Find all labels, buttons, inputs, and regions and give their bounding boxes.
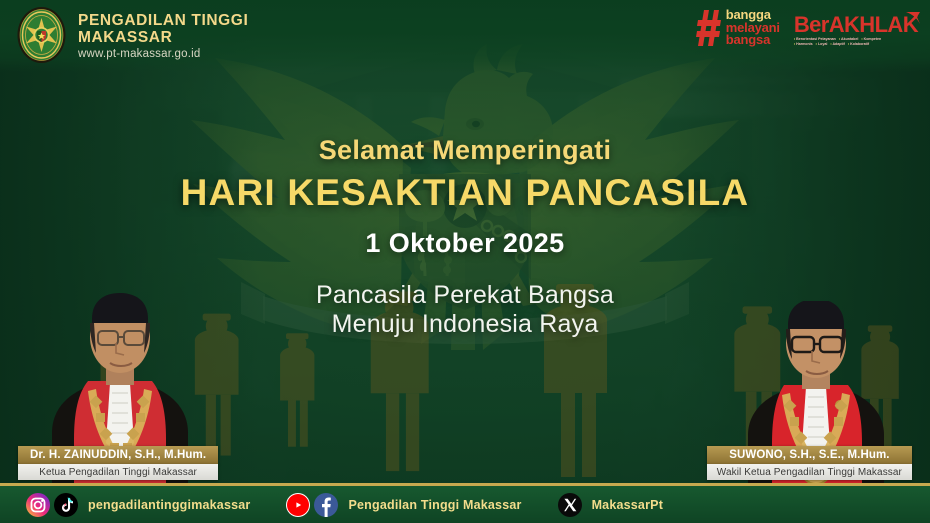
- campaign-logos: bangga melayani bangsa BerAKHLAK Berorie…: [697, 8, 918, 48]
- brand-text: PENGADILAN TINGGI MAKASSAR www.pt-makass…: [78, 10, 248, 60]
- brand-block: PENGADILAN TINGGI MAKASSAR www.pt-makass…: [16, 6, 248, 64]
- nameplate-right: SUWONO, S.H., S.E., M.Hum. Wakil Ketua P…: [707, 446, 912, 480]
- nameplate-left: Dr. H. ZAINUDDIN, S.H., M.Hum. Ketua Pen…: [18, 446, 218, 480]
- berakhlak-value: Kolaboratif: [848, 42, 869, 46]
- berakhlak-wordmark: BerAKHLAK: [794, 14, 918, 36]
- footer-handle-x: MakassarPt: [592, 498, 664, 512]
- berakhlak-value: Adaptif: [830, 42, 845, 46]
- official-name-left: Dr. H. ZAINUDDIN, S.H., M.Hum.: [18, 446, 218, 464]
- footer-group-x: MakassarPt: [558, 493, 664, 517]
- berakhlak-value: Kompeten: [861, 37, 881, 41]
- berakhlak-value: Loyal: [816, 42, 828, 46]
- berakhlak-logo: BerAKHLAK Berorientasi Pelayanan Akuntab…: [794, 10, 918, 47]
- website-url: www.pt-makassar.go.id: [78, 48, 248, 60]
- instagram-icon[interactable]: [26, 493, 50, 517]
- berakhlak-value: Harmonis: [794, 42, 813, 46]
- footer-handle-youtube-facebook: Pengadilan Tinggi Makassar: [348, 498, 521, 512]
- tiktok-icon[interactable]: [54, 493, 78, 517]
- hashtag-icon: [697, 8, 723, 48]
- bangga-melayani-bangsa-logo: bangga melayani bangsa: [697, 8, 780, 48]
- youtube-icon[interactable]: [286, 493, 310, 517]
- official-role-right: Wakil Ketua Pengadilan Tinggi Makassar: [707, 464, 912, 480]
- brand-title-line2: MAKASSAR: [78, 29, 248, 46]
- footer-handle-instagram-tiktok: pengadilantinggimakassar: [88, 498, 250, 512]
- footer-group-youtube-facebook: Pengadilan Tinggi Makassar: [286, 493, 521, 517]
- berakhlak-value: Berorientasi Pelayanan: [794, 37, 836, 41]
- header-bar: PENGADILAN TINGGI MAKASSAR www.pt-makass…: [0, 0, 930, 72]
- x-twitter-icon[interactable]: [558, 493, 582, 517]
- official-name-right: SUWONO, S.H., S.E., M.Hum.: [707, 446, 912, 464]
- berakhlak-value: Akuntabel: [839, 37, 859, 41]
- pengadilan-tinggi-makassar-crest-icon: [16, 6, 67, 64]
- brand-title-line1: PENGADILAN TINGGI: [78, 12, 248, 29]
- swoosh-icon: [905, 11, 921, 27]
- bangga-wordmark: bangga melayani bangsa: [726, 9, 780, 47]
- official-role-left: Ketua Pengadilan Tinggi Makassar: [18, 464, 218, 480]
- berakhlak-values: Berorientasi Pelayanan Akuntabel Kompete…: [794, 37, 898, 47]
- facebook-icon[interactable]: [314, 493, 338, 517]
- footer-bar: pengadilantinggimakassar Pengadilan Ting…: [0, 483, 930, 523]
- bangga-line-3: bangsa: [726, 34, 780, 47]
- poster-canvas: Dr. H. ZAINUDDIN, S.H., M.Hum. Ketua Pen…: [0, 0, 930, 523]
- footer-group-instagram-tiktok: pengadilantinggimakassar: [26, 493, 250, 517]
